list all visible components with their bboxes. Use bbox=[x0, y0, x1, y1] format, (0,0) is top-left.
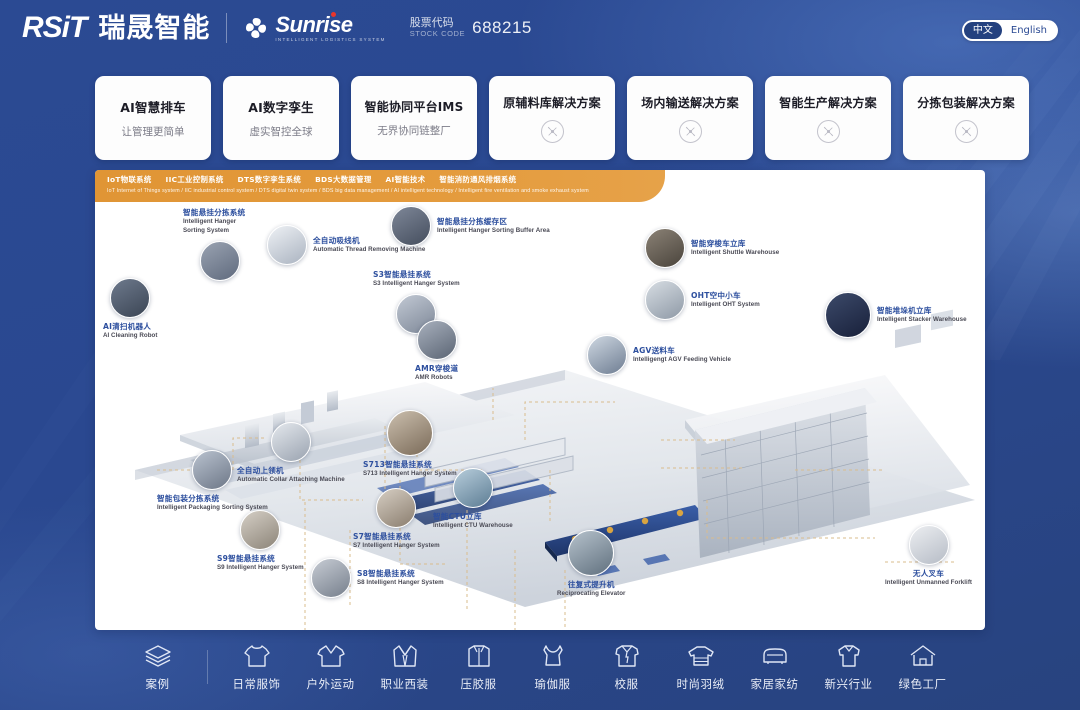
callout-thumbnail bbox=[417, 320, 457, 360]
solution-cards-row: AI智慧排车 让管理更简单 AI数字孪生 虚实智控全球 智能协同平台IMS 无界… bbox=[95, 76, 1029, 160]
callout-thumbnail bbox=[271, 422, 311, 462]
callout-title-cn: OHT空中小车 bbox=[691, 291, 760, 300]
callout-thumbnail bbox=[645, 280, 685, 320]
nav-item-cases[interactable]: 案例 bbox=[121, 643, 195, 692]
page-background: RSiT 瑞晟智能 Sunrise INTELLIGENT LOGISTICS … bbox=[0, 0, 1080, 710]
nav-item-business-suit[interactable]: 职业西装 bbox=[368, 643, 442, 692]
callout-hanger-sorting-system[interactable]: 智能悬挂分拣系统 Intelligent Hanger Sorting Syst… bbox=[183, 208, 257, 281]
callout-title-en: S9 Intelligent Hanger System bbox=[217, 564, 304, 572]
gear-tools-icon bbox=[955, 120, 978, 143]
nav-item-down-jacket[interactable]: 时尚羽绒 bbox=[664, 643, 738, 692]
callout-title-en: Intelligent OHT System bbox=[691, 301, 760, 309]
sofa-icon bbox=[760, 643, 790, 669]
nav-item-emerging-industry[interactable]: 新兴行业 bbox=[812, 643, 886, 692]
callout-title-en: Intelligent Hanger Sorting System bbox=[183, 218, 257, 234]
nav-label: 瑜伽服 bbox=[535, 676, 571, 692]
nav-label: 绿色工厂 bbox=[899, 676, 947, 692]
callout-title-en: S8 Intelligent Hanger System bbox=[357, 579, 444, 587]
callout-title-cn: 智能CTU立库 bbox=[433, 512, 513, 521]
callout-title-en: Intelligent CTU Warehouse bbox=[433, 522, 513, 530]
callout-title-cn: S7智能悬挂系统 bbox=[353, 532, 440, 541]
callout-hanger-sorting-buffer[interactable]: 智能悬挂分拣缓存区 Intelligent Hanger Sorting Buf… bbox=[391, 206, 550, 246]
suit-icon bbox=[390, 643, 420, 669]
school-uniform-icon bbox=[612, 643, 642, 669]
outdoor-jacket-icon bbox=[316, 643, 346, 669]
callout-thumbnail bbox=[568, 530, 614, 576]
card-subtitle: 虚实智控全球 bbox=[250, 124, 313, 139]
gear-tools-icon bbox=[541, 120, 564, 143]
solution-card-smart-production[interactable]: 智能生产解决方案 bbox=[765, 76, 891, 160]
factory-diagram-panel: IoT物联系统 IIC工业控制系统 DTS数字孪生系统 BDS大数据管理 AI智… bbox=[95, 170, 985, 630]
callout-title-cn: AGV送料车 bbox=[633, 346, 731, 355]
yoga-top-icon bbox=[538, 643, 568, 669]
tshirt-icon bbox=[242, 643, 272, 669]
solution-card-ims[interactable]: 智能协同平台IMS 无界协同链整厂 bbox=[351, 76, 477, 160]
callout-shuttle-warehouse[interactable]: 智能穿梭车立库 Intelligent Shuttle Warehouse bbox=[645, 228, 779, 268]
callout-s7-hanger-system[interactable]: S7智能悬挂系统 S7 Intelligent Hanger System bbox=[353, 488, 440, 550]
callout-ai-cleaning-robot[interactable]: AI清扫机器人 AI Cleaning Robot bbox=[103, 278, 157, 340]
nav-divider bbox=[207, 650, 208, 684]
card-title: 智能生产解决方案 bbox=[779, 94, 877, 111]
sunrise-partner-logo[interactable]: Sunrise INTELLIGENT LOGISTICS SYSTEM bbox=[243, 14, 385, 43]
callout-thumbnail bbox=[110, 278, 150, 318]
callout-title-en: Intelligengt AGV Feeding Vehicle bbox=[633, 356, 731, 364]
callout-title-en: AMR Robots bbox=[415, 374, 458, 382]
callout-thumbnail bbox=[645, 228, 685, 268]
callout-thumbnail bbox=[200, 241, 240, 281]
callout-title-cn: 智能包装分拣系统 bbox=[157, 494, 268, 503]
nav-item-yoga-wear[interactable]: 瑜伽服 bbox=[516, 643, 590, 692]
nav-label: 家居家纺 bbox=[751, 676, 799, 692]
callout-title-cn: 智能悬挂分拣系统 bbox=[183, 208, 257, 217]
nav-label: 压胶服 bbox=[461, 676, 497, 692]
solution-card-intralogistics[interactable]: 场内输送解决方案 bbox=[627, 76, 753, 160]
stock-label-en: STOCK CODE bbox=[410, 30, 465, 39]
lang-option-chinese[interactable]: 中文 bbox=[964, 22, 1002, 39]
callout-thumbnail bbox=[391, 206, 431, 246]
polo-shirt-icon bbox=[834, 643, 864, 669]
callout-title-cn: S8智能悬挂系统 bbox=[357, 569, 444, 578]
nav-item-outdoor-sports[interactable]: 户外运动 bbox=[294, 643, 368, 692]
bonded-jacket-icon bbox=[464, 643, 494, 669]
sunrise-pinwheel-icon bbox=[243, 15, 269, 41]
callout-title-cn: AMR穿梭道 bbox=[415, 364, 458, 373]
solution-card-digital-twin[interactable]: AI数字孪生 虚实智控全球 bbox=[223, 76, 339, 160]
card-title: AI智慧排车 bbox=[120, 97, 186, 116]
nav-label: 校服 bbox=[615, 676, 639, 692]
callout-thumbnail bbox=[825, 292, 871, 338]
callout-title-en: Reciprocating Elevator bbox=[557, 590, 626, 598]
card-title: 原辅料库解决方案 bbox=[503, 94, 601, 111]
card-title: AI数字孪生 bbox=[248, 97, 314, 116]
callout-title-cn: S3智能悬挂系统 bbox=[373, 270, 460, 279]
callout-thumbnail bbox=[267, 225, 307, 265]
industry-navigation-bar: 案例 日常服饰 户外运动 职业西装 bbox=[0, 632, 1080, 702]
rsit-logo-text: RSiT bbox=[22, 13, 86, 43]
callout-title-en: Intelligent Stacker Warehouse bbox=[877, 316, 967, 324]
callout-oht-system[interactable]: OHT空中小车 Intelligent OHT System bbox=[645, 280, 760, 320]
card-subtitle: 让管理更简单 bbox=[122, 124, 185, 139]
site-header: RSiT 瑞晟智能 Sunrise INTELLIGENT LOGISTICS … bbox=[0, 0, 1080, 62]
callout-title-en: Intelligent Unmanned Forklift bbox=[885, 579, 972, 587]
callout-thumbnail bbox=[453, 468, 493, 508]
callout-thumbnail bbox=[240, 510, 280, 550]
callout-thumbnail bbox=[376, 488, 416, 528]
callout-thumbnail bbox=[909, 525, 949, 565]
callout-title-en: S7 Intelligent Hanger System bbox=[353, 542, 440, 550]
rsit-logo-cn: 瑞晟智能 bbox=[98, 15, 210, 42]
callout-title-cn: 智能悬挂分拣缓存区 bbox=[437, 217, 550, 226]
nav-label: 职业西装 bbox=[381, 676, 429, 692]
callout-thumbnail bbox=[387, 410, 433, 456]
nav-item-daily-apparel[interactable]: 日常服饰 bbox=[220, 643, 294, 692]
callout-title-en: Automatic Thread Removing Machine bbox=[313, 246, 425, 254]
callout-title-cn: 智能穿梭车立库 bbox=[691, 239, 779, 248]
nav-item-bonded-garment[interactable]: 压胶服 bbox=[442, 643, 516, 692]
callout-s8-hanger-system[interactable]: S8智能悬挂系统 S8 Intelligent Hanger System bbox=[311, 558, 444, 598]
sunrise-name: Sunrise bbox=[275, 14, 352, 36]
callout-amr-robots[interactable]: AMR穿梭道 AMR Robots bbox=[415, 320, 458, 382]
card-title: 智能协同平台IMS bbox=[365, 98, 464, 115]
sunrise-tagline: INTELLIGENT LOGISTICS SYSTEM bbox=[275, 38, 385, 43]
card-title: 场内输送解决方案 bbox=[641, 94, 739, 111]
callout-thumbnail bbox=[311, 558, 351, 598]
callout-title-en: Intelligent Shuttle Warehouse bbox=[691, 249, 779, 257]
gear-tools-icon bbox=[817, 120, 840, 143]
nav-label: 时尚羽绒 bbox=[677, 676, 725, 692]
down-jacket-icon bbox=[686, 643, 716, 669]
callout-title-cn: 全自动上领机 bbox=[237, 466, 345, 475]
callout-unmanned-forklift[interactable]: 无人叉车 Intelligent Unmanned Forklift bbox=[885, 525, 972, 587]
solution-card-ai-scheduling[interactable]: AI智慧排车 让管理更简单 bbox=[95, 76, 211, 160]
callout-title-en: AI Cleaning Robot bbox=[103, 332, 157, 340]
stock-info: 股票代码 STOCK CODE 688215 bbox=[410, 17, 532, 38]
callout-s9-hanger-system[interactable]: S9智能悬挂系统 S9 Intelligent Hanger System bbox=[217, 510, 304, 572]
callout-title-cn: AI清扫机器人 bbox=[103, 322, 157, 331]
callout-title-cn: S9智能悬挂系统 bbox=[217, 554, 304, 563]
callout-stacker-warehouse[interactable]: 智能堆垛机立库 Intelligent Stacker Warehouse bbox=[825, 292, 967, 338]
nav-label: 新兴行业 bbox=[825, 676, 873, 692]
nav-item-green-factory[interactable]: 绿色工厂 bbox=[886, 643, 960, 692]
language-toggle[interactable]: 中文 English bbox=[962, 20, 1058, 41]
callout-thumbnail bbox=[192, 450, 232, 490]
stock-code-value: 688215 bbox=[472, 18, 532, 38]
callout-title-en: Intelligent Hanger Sorting Buffer Area bbox=[437, 227, 550, 235]
sunrise-name-text: Sunrise bbox=[275, 12, 352, 37]
callout-title-cn: 无人叉车 bbox=[885, 569, 972, 578]
nav-label: 案例 bbox=[146, 676, 170, 692]
solution-card-sorting-packaging[interactable]: 分拣包装解决方案 bbox=[903, 76, 1029, 160]
lang-option-english[interactable]: English bbox=[1002, 22, 1056, 39]
callout-title-cn: 智能堆垛机立库 bbox=[877, 306, 967, 315]
house-icon bbox=[908, 643, 938, 669]
nav-label: 日常服饰 bbox=[233, 676, 281, 692]
callout-title-en: S3 Intelligent Hanger System bbox=[373, 280, 460, 288]
callout-title-en: Automatic Collar Attaching Machine bbox=[237, 476, 345, 484]
layers-icon bbox=[143, 643, 173, 669]
brand-logo-group[interactable]: RSiT 瑞晟智能 Sunrise INTELLIGENT LOGISTICS … bbox=[22, 13, 532, 43]
callout-reciprocating-elevator[interactable]: 往复式提升机 Reciprocating Elevator bbox=[557, 530, 626, 598]
logo-divider bbox=[226, 13, 227, 43]
callout-thumbnail bbox=[587, 335, 627, 375]
card-title: 分拣包装解决方案 bbox=[917, 94, 1015, 111]
callout-title-cn: 往复式提升机 bbox=[557, 580, 626, 589]
callout-collar-attaching-machine[interactable]: 全自动上领机 Automatic Collar Attaching Machin… bbox=[237, 422, 345, 484]
callout-agv-feeding-vehicle[interactable]: AGV送料车 Intelligengt AGV Feeding Vehicle bbox=[587, 335, 731, 375]
nav-item-school-uniform[interactable]: 校服 bbox=[590, 643, 664, 692]
gear-tools-icon bbox=[679, 120, 702, 143]
solution-card-raw-material-warehouse[interactable]: 原辅料库解决方案 bbox=[489, 76, 615, 160]
callout-ctu-warehouse[interactable]: 智能CTU立库 Intelligent CTU Warehouse bbox=[433, 468, 513, 530]
card-subtitle: 无界协同链整厂 bbox=[377, 123, 451, 138]
nav-label: 户外运动 bbox=[307, 676, 355, 692]
nav-item-home-textiles[interactable]: 家居家纺 bbox=[738, 643, 812, 692]
